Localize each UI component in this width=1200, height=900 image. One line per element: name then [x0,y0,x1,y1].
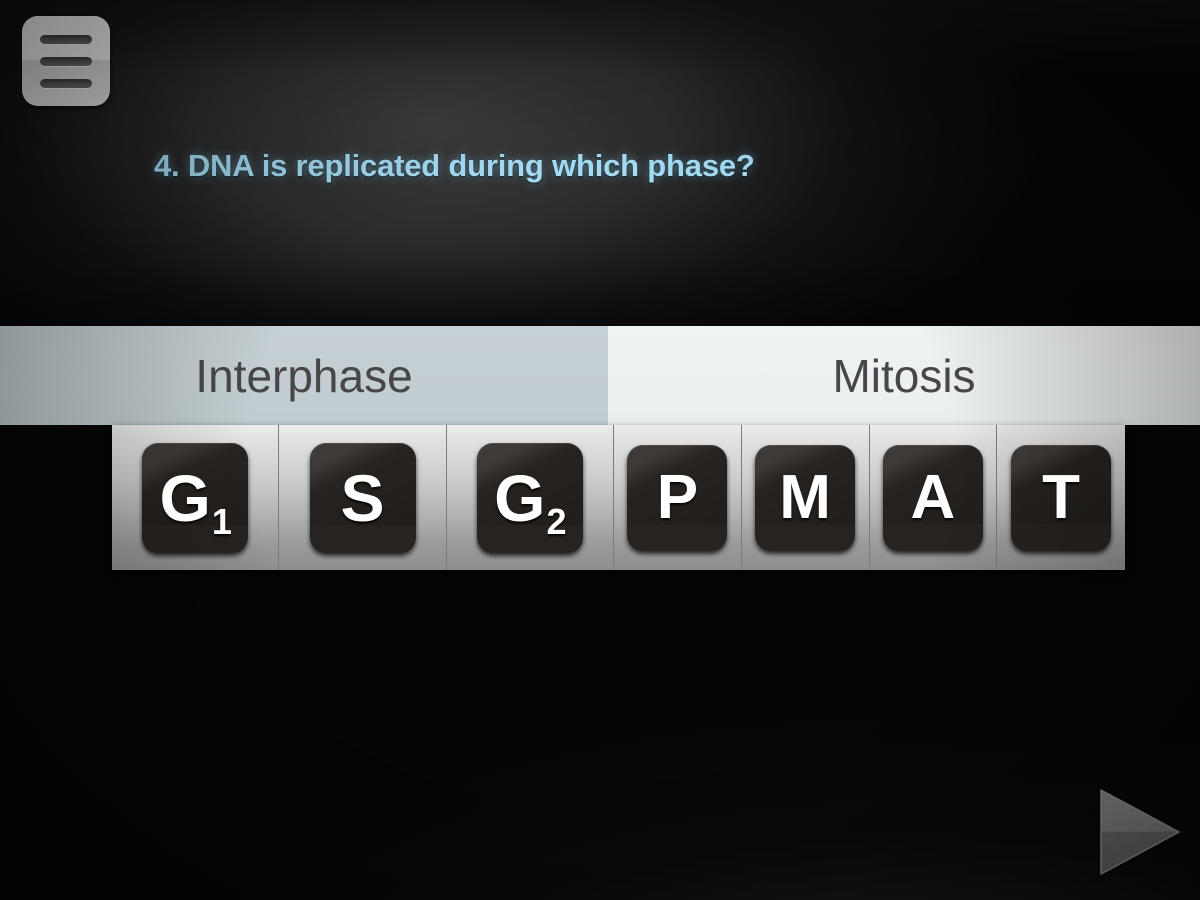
answer-tile-a-text: A [910,467,955,529]
hamburger-menu-icon[interactable] [22,16,110,106]
menu-bar-top [40,35,92,44]
answer-tile-g1-subscript: 1 [212,504,232,540]
answer-tile-s-letter: S [341,465,385,531]
answer-tile-g1[interactable]: G1 [142,443,248,553]
answer-tile-g2-subscript: 2 [547,504,567,540]
answer-tile-m[interactable]: M [755,445,855,551]
answer-tile-s[interactable]: S [310,443,416,553]
answer-tile-p-text: P [657,467,698,529]
answer-cell-t[interactable]: T [997,425,1125,570]
play-triangle-icon[interactable] [1093,786,1183,878]
tab-mitosis-label: Mitosis [832,349,975,403]
menu-bar-bottom [40,79,92,88]
answer-tile-g2-text: G2 [494,465,565,531]
tab-interphase[interactable]: Interphase [0,326,608,425]
tab-mitosis[interactable]: Mitosis [608,326,1200,425]
answer-cell-a[interactable]: A [870,425,998,570]
answer-tile-g2[interactable]: G2 [477,443,583,553]
answer-cell-s[interactable]: S [279,425,446,570]
answer-cell-m[interactable]: M [742,425,870,570]
answer-tile-a[interactable]: A [883,445,983,551]
answer-tile-s-text: S [341,465,385,531]
answer-tile-t-text: T [1042,467,1080,529]
play-triangle-svg [1093,786,1183,878]
answer-tile-t[interactable]: T [1011,445,1111,551]
answer-tile-p[interactable]: P [627,445,727,551]
menu-bar-middle [40,57,92,66]
answer-cell-g1[interactable]: G1 [112,425,279,570]
quiz-screen: 4. DNA is replicated during which phase?… [0,0,1200,900]
answer-category-tabs: Interphase Mitosis [0,326,1200,425]
answer-tile-g1-text: G1 [159,465,230,531]
answer-cell-p[interactable]: P [614,425,742,570]
answer-tile-strip: G1 S G2 P M A [112,425,1125,570]
answer-tile-g2-letter: G [494,465,545,531]
answer-tile-g1-letter: G [159,465,210,531]
background-glow-bottom [0,570,1200,900]
question-text: 4. DNA is replicated during which phase? [154,148,755,184]
answer-cell-g2[interactable]: G2 [447,425,614,570]
answer-tile-m-text: M [779,467,831,529]
tab-interphase-label: Interphase [195,349,412,403]
